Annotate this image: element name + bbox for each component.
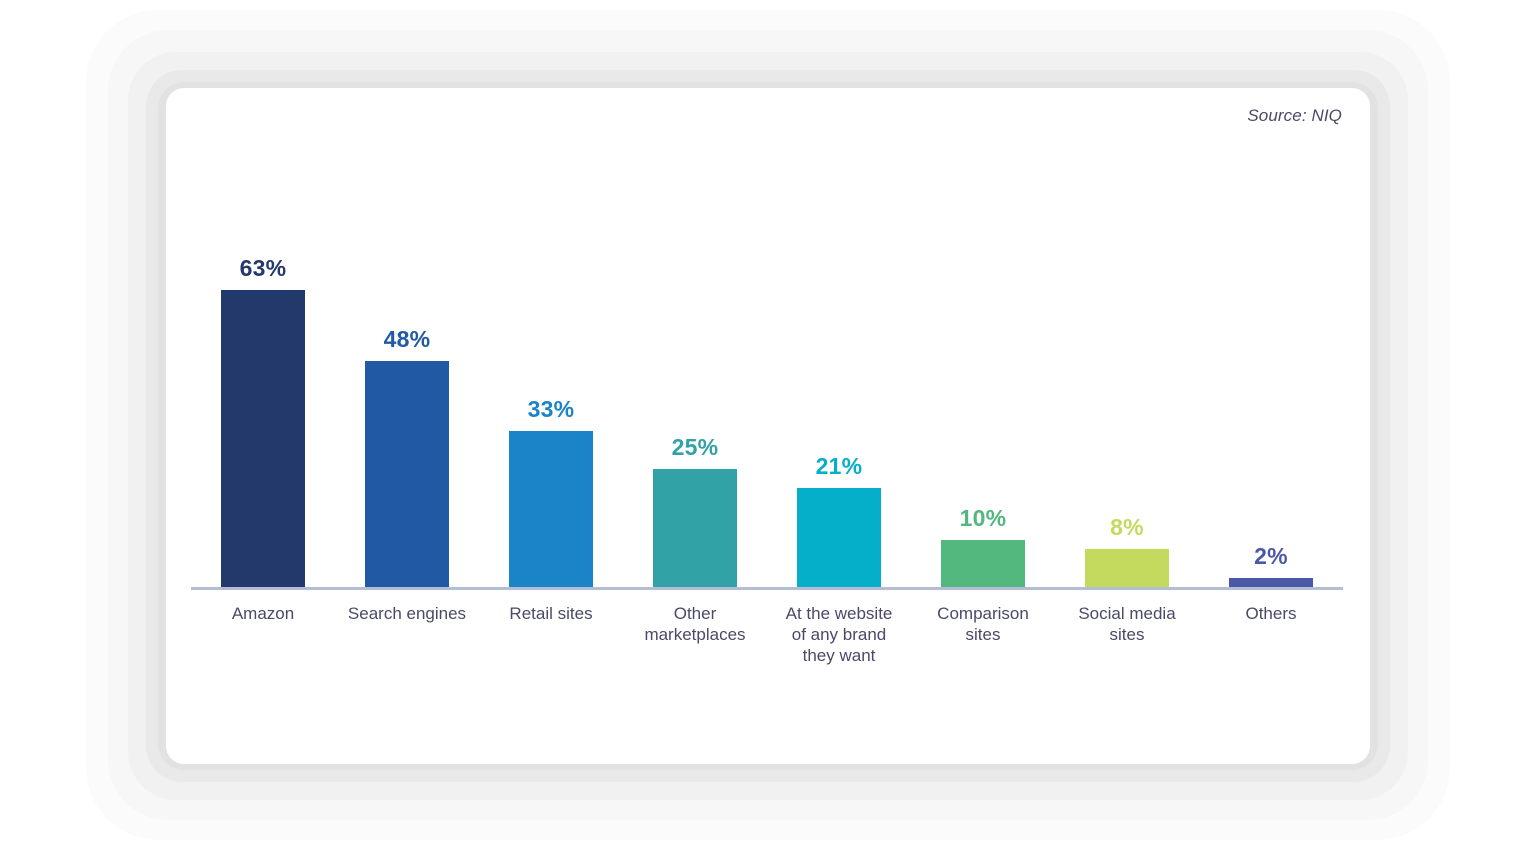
bar-group: 8%Social media sites <box>1055 88 1199 764</box>
bar-group: 33%Retail sites <box>479 88 623 764</box>
bar-group: 48%Search engines <box>335 88 479 764</box>
bar-group: 2%Others <box>1199 88 1343 764</box>
screenshot-root: Source: NIQ 63%Amazon48%Search engines33… <box>0 0 1536 852</box>
bar-value-label: 33% <box>528 396 575 423</box>
bar-value-label: 2% <box>1254 543 1288 570</box>
bar[interactable] <box>941 540 1025 587</box>
bar-chart: 63%Amazon48%Search engines33%Retail site… <box>166 88 1370 764</box>
bar-value-label: 25% <box>672 434 719 461</box>
bar[interactable] <box>1229 578 1313 587</box>
bar-group: 10%Comparison sites <box>911 88 1055 764</box>
bar[interactable] <box>221 290 305 587</box>
bar-value-label: 10% <box>960 505 1007 532</box>
bar-group: 63%Amazon <box>191 88 335 764</box>
chart-card: Source: NIQ 63%Amazon48%Search engines33… <box>166 88 1370 764</box>
bar-category-label: Others <box>1181 603 1361 624</box>
bar[interactable] <box>365 361 449 587</box>
bar[interactable] <box>653 469 737 587</box>
bar-value-label: 8% <box>1110 514 1144 541</box>
bar-value-label: 21% <box>816 453 863 480</box>
bar-series: 63%Amazon48%Search engines33%Retail site… <box>191 88 1343 764</box>
bar-value-label: 48% <box>384 326 431 353</box>
bar-group: 25%Other marketplaces <box>623 88 767 764</box>
bar[interactable] <box>1085 549 1169 587</box>
bar-value-label: 63% <box>240 255 287 282</box>
bar-group: 21%At the website of any brand they want <box>767 88 911 764</box>
bar[interactable] <box>509 431 593 587</box>
bar[interactable] <box>797 488 881 587</box>
